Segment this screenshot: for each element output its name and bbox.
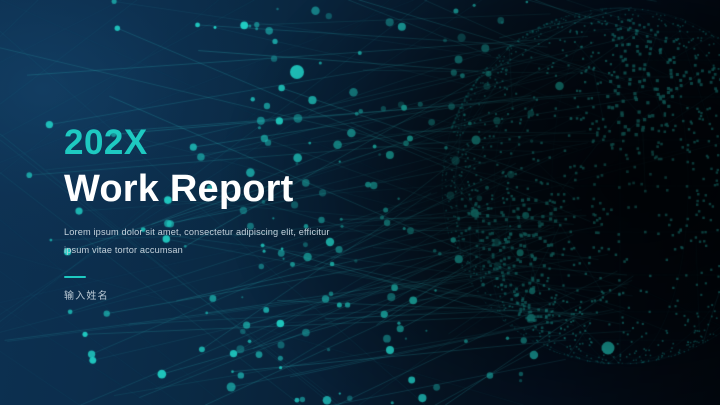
page-title: Work Report (64, 168, 394, 211)
year-label: 202X (64, 124, 394, 162)
title-text-block: 202X Work Report Lorem ipsum dolor sit a… (64, 124, 394, 302)
presentation-slide: 202X Work Report Lorem ipsum dolor sit a… (0, 0, 720, 405)
subtitle-text: Lorem ipsum dolor sit amet, consectetur … (64, 224, 349, 260)
author-name-field[interactable]: 输入姓名 (64, 287, 394, 302)
accent-divider (64, 276, 86, 278)
